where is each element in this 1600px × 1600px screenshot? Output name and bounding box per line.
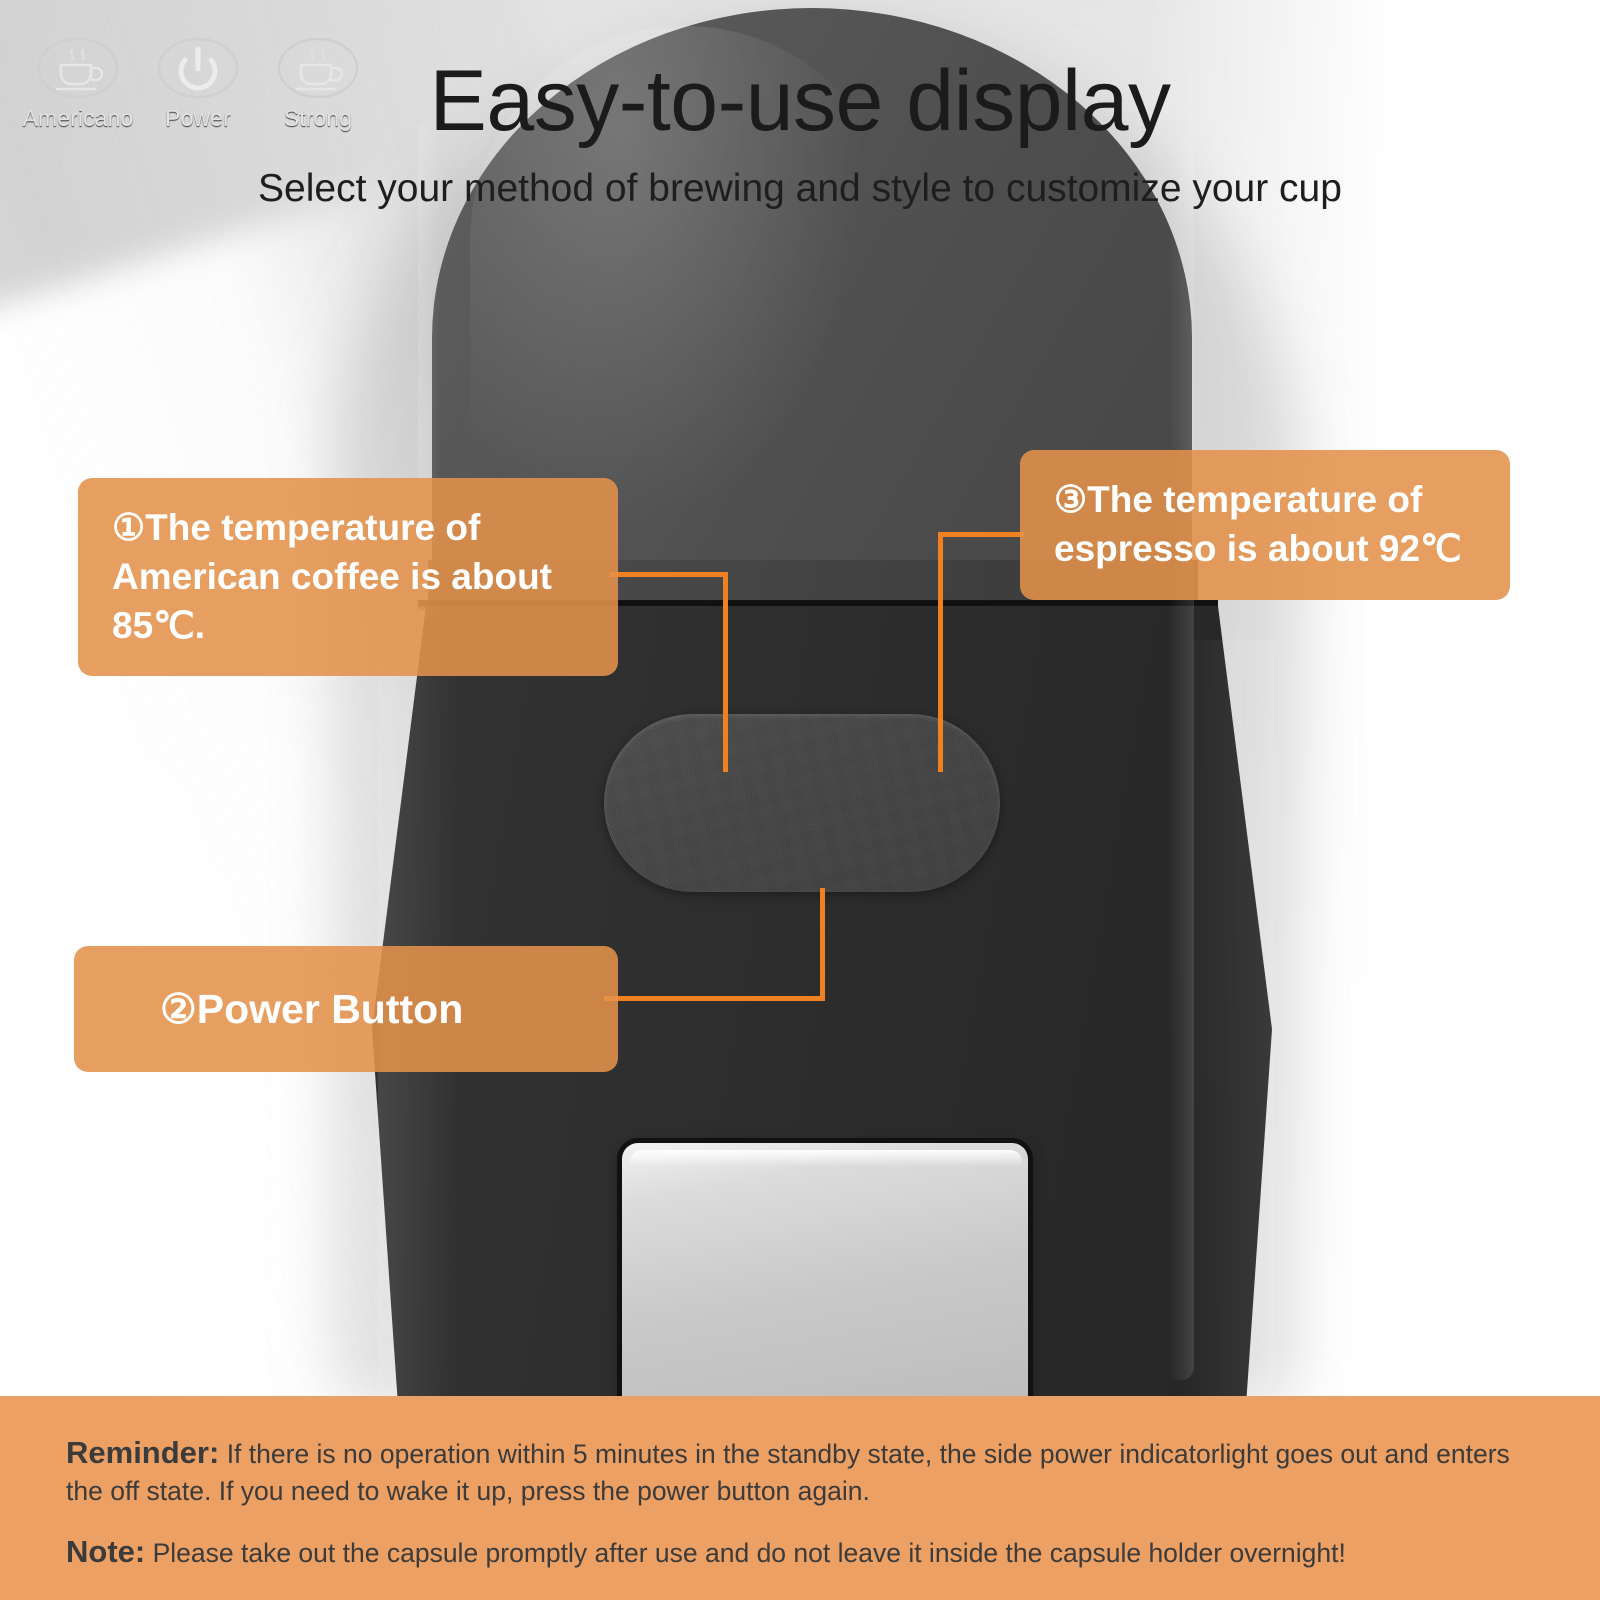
header: Easy-to-use display Select your method o… [0, 0, 1600, 211]
leader-line-callout-3-horizontal [938, 532, 1024, 537]
callout-1-marker: ① [112, 507, 145, 548]
callout-power-button: ②Power Button [74, 946, 618, 1072]
reminder-label: Reminder: [66, 1435, 219, 1470]
reminder-row: Reminder: If there is no operation withi… [66, 1432, 1548, 1509]
callout-3-marker: ③ [1054, 479, 1087, 520]
bottom-banner: Reminder: If there is no operation withi… [0, 1396, 1600, 1600]
reminder-text: If there is no operation within 5 minute… [66, 1439, 1510, 1506]
note-label: Note: [66, 1534, 145, 1569]
page-subtitle: Select your method of brewing and style … [0, 151, 1600, 211]
callout-2-marker: ② [160, 986, 197, 1032]
callout-3-text: The temperature of espresso is about 92℃ [1054, 479, 1462, 569]
product-infographic: Americano Power Str [0, 0, 1600, 1600]
callout-americano-temperature: ①The temperature of American coffee is a… [78, 478, 618, 676]
leader-line-callout-2-horizontal [604, 996, 825, 1001]
capsule-holder-plate[interactable] [622, 1143, 1028, 1401]
leader-line-callout-1-horizontal [610, 572, 728, 577]
capsule-holder-highlight [630, 1150, 1022, 1166]
callout-2-text: Power Button [197, 986, 463, 1032]
leader-line-callout-2-vertical [820, 888, 825, 1000]
machine-lower-right-sheen [1180, 640, 1275, 1410]
callout-1-text: The temperature of American coffee is ab… [112, 507, 552, 646]
leader-line-callout-3-vertical [938, 532, 943, 772]
machine-right-edge-highlight [1168, 140, 1194, 1380]
note-text: Please take out the capsule promptly aft… [153, 1538, 1346, 1568]
note-row: Note: Please take out the capsule prompt… [66, 1531, 1548, 1573]
coffee-machine: Americano Power Str [0, 0, 1600, 1420]
callout-espresso-temperature: ③The temperature of espresso is about 92… [1020, 450, 1510, 600]
leader-line-callout-1-vertical [723, 572, 728, 772]
page-title: Easy-to-use display [0, 0, 1600, 151]
